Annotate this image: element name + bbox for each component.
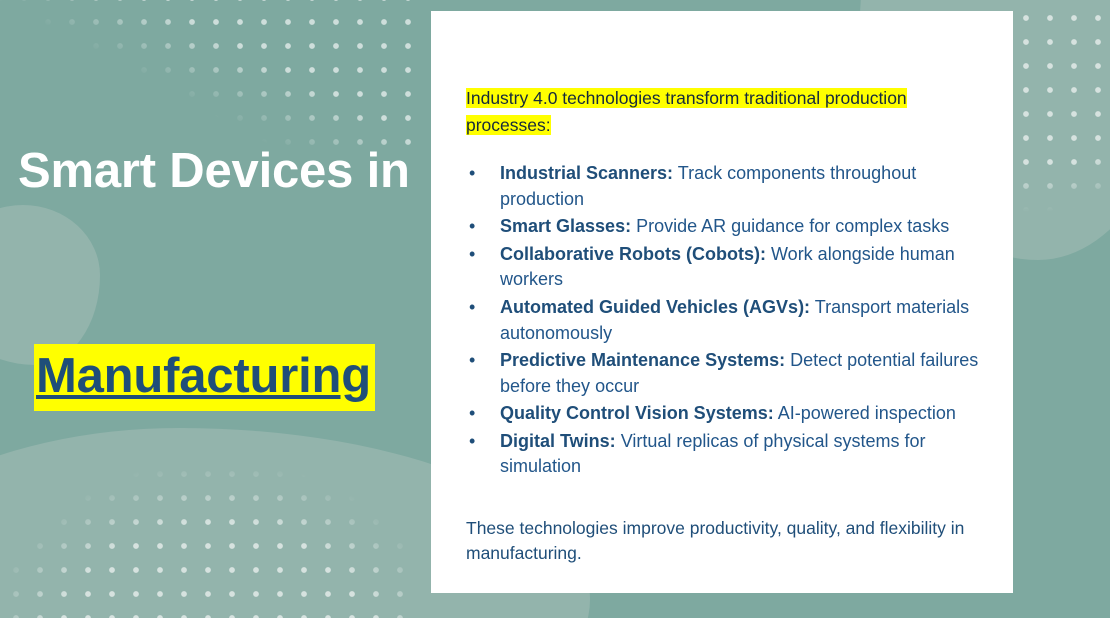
bullet-marker-icon: • (469, 161, 475, 187)
list-item: • Quality Control Vision Systems: AI-pow… (466, 401, 991, 427)
list-item-term: Quality Control Vision Systems: (500, 403, 774, 423)
list-item: • Automated Guided Vehicles (AGVs): Tran… (466, 295, 991, 346)
bullet-marker-icon: • (469, 348, 475, 374)
bullet-marker-icon: • (469, 401, 475, 427)
list-item-term: Smart Glasses: (500, 216, 631, 236)
smart-device-list: • Industrial Scanners: Track components … (466, 161, 991, 480)
list-item-term: Automated Guided Vehicles (AGVs): (500, 297, 810, 317)
closing-paragraph: These technologies improve productivity,… (466, 516, 966, 567)
intro-paragraph: Industry 4.0 technologies transform trad… (466, 85, 991, 139)
bullet-marker-icon: • (469, 214, 475, 240)
list-item: • Predictive Maintenance Systems: Detect… (466, 348, 991, 399)
list-item-term: Collaborative Robots (Cobots): (500, 244, 766, 264)
list-item-description: Provide AR guidance for complex tasks (636, 216, 949, 236)
slide-title-line-2-highlighted: Manufacturing (34, 344, 375, 411)
slide-title-line-1: Smart Devices in (18, 144, 428, 199)
list-item-term: Predictive Maintenance Systems: (500, 350, 785, 370)
list-item-description: AI-powered inspection (778, 403, 956, 423)
presentation-slide: Smart Devices in Manufacturing Industry … (0, 0, 1110, 618)
content-card: Industry 4.0 technologies transform trad… (431, 11, 1013, 593)
list-item-term: Industrial Scanners: (500, 163, 673, 183)
list-item: • Industrial Scanners: Track components … (466, 161, 991, 212)
bullet-marker-icon: • (469, 295, 475, 321)
bullet-marker-icon: • (469, 242, 475, 268)
list-item: • Digital Twins: Virtual replicas of phy… (466, 429, 991, 480)
list-item: • Smart Glasses: Provide AR guidance for… (466, 214, 991, 240)
slide-title-highlight-wrap: Manufacturing (34, 344, 375, 411)
list-item: • Collaborative Robots (Cobots): Work al… (466, 242, 991, 293)
list-item-term: Digital Twins: (500, 431, 616, 451)
intro-paragraph-highlighted-text: Industry 4.0 technologies transform trad… (466, 88, 907, 135)
slide-title-block: Smart Devices in Manufacturing (0, 0, 431, 618)
bullet-marker-icon: • (469, 429, 475, 455)
